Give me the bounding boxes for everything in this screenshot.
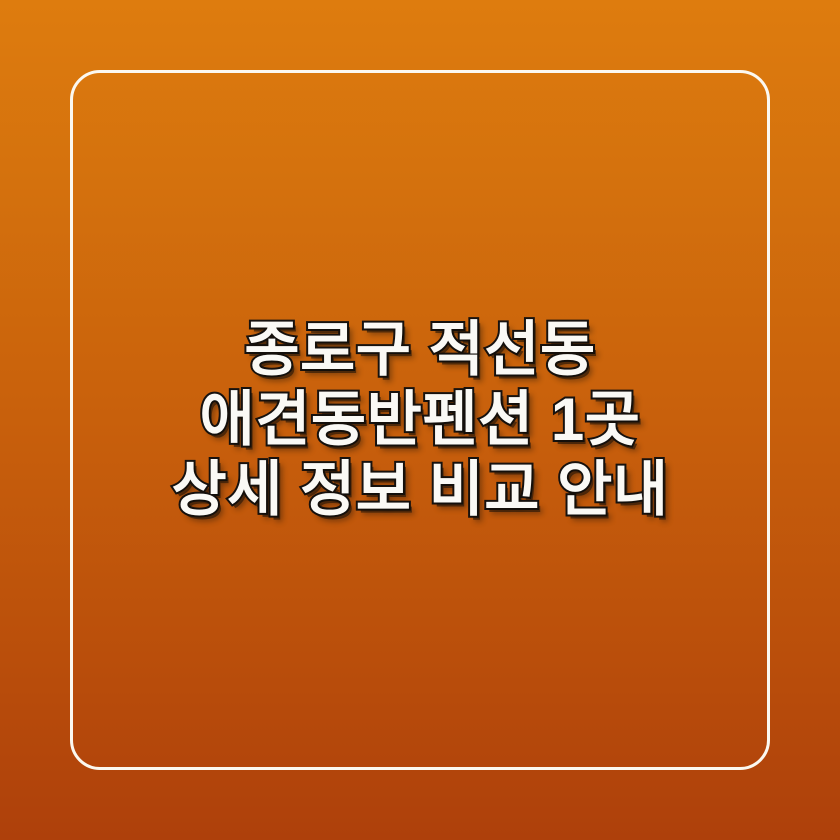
title-line-1: 종로구 적선동 [80,315,760,385]
title-block: 종로구 적선동 애견동반펜션 1곳 상세 정보 비교 안내 [0,0,840,840]
poster-canvas: 종로구 적선동 애견동반펜션 1곳 상세 정보 비교 안내 [0,0,840,840]
title-line-3: 상세 정보 비교 안내 [80,455,760,525]
title-line-2: 애견동반펜션 1곳 [80,385,760,455]
